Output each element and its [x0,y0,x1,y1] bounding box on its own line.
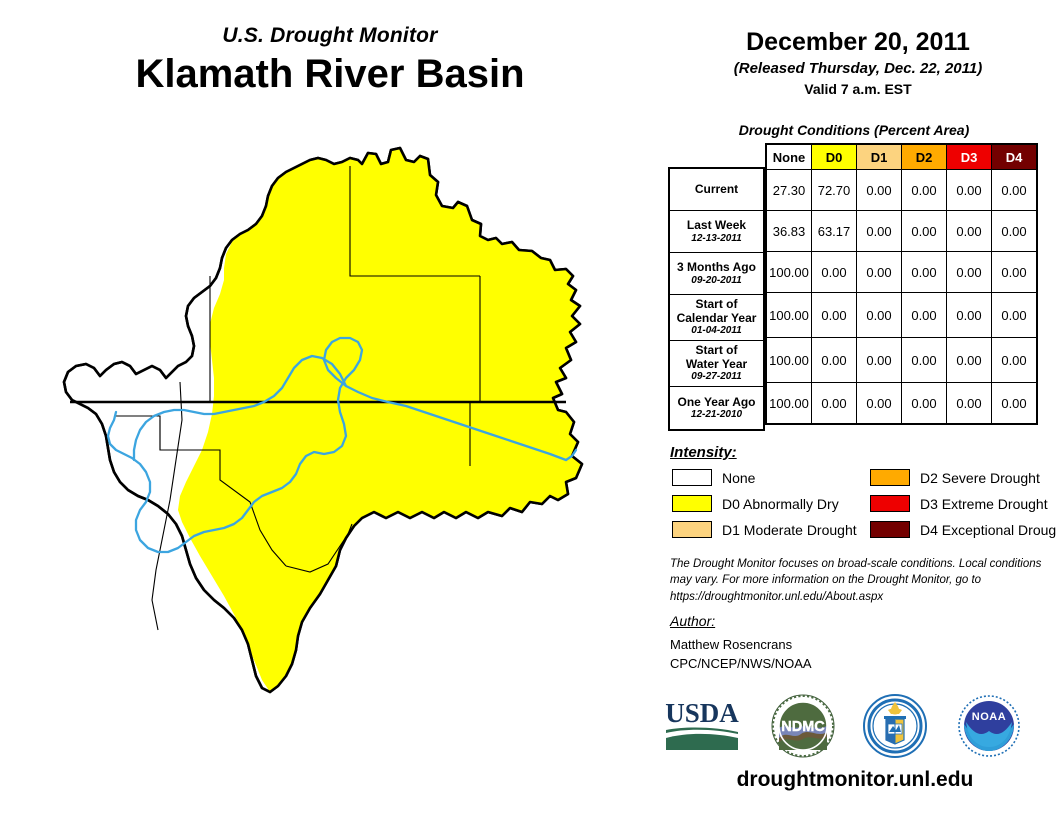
table-header-d2: D2 [902,144,947,170]
title-block: U.S. Drought Monitor Klamath River Basin [0,24,660,97]
row-label-date: 12-13-2011 [691,233,741,244]
legend-item-none: None [672,469,755,486]
cell-d1: 0.00 [857,170,902,211]
cell-d1: 0.00 [857,252,902,293]
cell-d1: 0.00 [857,293,902,338]
row-label-start-of-water-year: Start ofWater Year09-27-2011 [670,341,763,387]
cell-d4: 0.00 [992,293,1038,338]
author-heading: Author: [670,613,715,629]
table-row: 27.3072.700.000.000.000.00 [766,170,1037,211]
cell-d0: 0.00 [812,338,857,383]
cell-d0: 0.00 [812,383,857,425]
cell-d4: 0.00 [992,170,1038,211]
legend-label-none: None [722,470,755,486]
cell-d4: 0.00 [992,338,1038,383]
table-header-row: NoneD0D1D2D3D4 [766,144,1037,170]
table-row: 100.000.000.000.000.000.00 [766,338,1037,383]
cell-d0: 0.00 [812,252,857,293]
table-caption: Drought Conditions (Percent Area) [668,122,1040,138]
cell-d2: 0.00 [902,338,947,383]
cell-none: 36.83 [766,211,812,252]
cell-d2: 0.00 [902,211,947,252]
table-row: 100.000.000.000.000.000.00 [766,383,1037,425]
cell-d4: 0.00 [992,211,1038,252]
row-label-months-ago: 3 Months Ago09-20-2011 [670,253,763,295]
row-label-current: Current [670,169,763,211]
cell-d2: 0.00 [902,252,947,293]
table-header-d3: D3 [947,144,992,170]
author-block: Matthew Rosencrans CPC/NCEP/NWS/NOAA [670,636,812,674]
row-label-main: Calendar Year [677,312,757,325]
logo-row: USDA NDMC [660,694,1050,760]
drought-conditions-table: NoneD0D1D2D3D4 27.3072.700.000.000.000.0… [765,143,1038,425]
svg-text:NDMC: NDMC [781,719,825,735]
cell-d0: 72.70 [812,170,857,211]
legend-item-d3: D3 Extreme Drought [870,495,1048,512]
legend-item-d1: D1 Moderate Drought [672,521,857,538]
row-label-date: 01-04-2011 [691,325,741,336]
legend-swatch-d4 [870,521,910,538]
row-label-date: 09-20-2011 [691,275,741,286]
cell-d1: 0.00 [857,211,902,252]
legend-label-d2: D2 Severe Drought [920,470,1040,486]
noaa-logo[interactable]: NOAA [956,694,1022,763]
cell-d4: 0.00 [992,252,1038,293]
row-label-date: 09-27-2011 [691,371,741,382]
legend-swatch-d0 [672,495,712,512]
author-affiliation: CPC/NCEP/NWS/NOAA [670,655,812,674]
author-name: Matthew Rosencrans [670,636,812,655]
table-row: 100.000.000.000.000.000.00 [766,252,1037,293]
commerce-seal[interactable] [862,694,928,763]
disclaimer-text: The Drought Monitor focuses on broad-sca… [670,556,1045,605]
release-date: (Released Thursday, Dec. 22, 2011) [668,60,1048,77]
row-label-one-year-ago: One Year Ago12-21-2010 [670,387,763,429]
usda-logo[interactable]: USDA [660,694,744,759]
ndmc-logo[interactable]: NDMC [770,694,836,763]
legend-item-d0: D0 Abnormally Dry [672,495,839,512]
cell-none: 100.00 [766,293,812,338]
table-row: 100.000.000.000.000.000.00 [766,293,1037,338]
page-supertitle: U.S. Drought Monitor [0,24,660,48]
legend-swatch-d2 [870,469,910,486]
drought-map[interactable] [10,120,650,720]
cell-d3: 0.00 [947,383,992,425]
cell-d2: 0.00 [902,383,947,425]
row-label-start-of-calendar-year: Start ofCalendar Year01-04-2011 [670,295,763,341]
table-header-d0: D0 [812,144,857,170]
cell-d0: 63.17 [812,211,857,252]
svg-text:NOAA: NOAA [972,711,1006,723]
cell-d0: 0.00 [812,293,857,338]
cell-d3: 0.00 [947,211,992,252]
legend-label-d0: D0 Abnormally Dry [722,496,839,512]
date-block: December 20, 2011 (Released Thursday, De… [668,28,1048,97]
cell-none: 27.30 [766,170,812,211]
d0-region [178,148,582,692]
table-header-none: None [766,144,812,170]
table-body: 27.3072.700.000.000.000.0036.8363.170.00… [766,170,1037,425]
legend-label-d4: D4 Exceptional Drought [920,522,1056,538]
legend-label-d1: D1 Moderate Drought [722,522,857,538]
legend-swatch-d3 [870,495,910,512]
table-row: 36.8363.170.000.000.000.00 [766,211,1037,252]
report-date: December 20, 2011 [668,28,1048,57]
cell-d2: 0.00 [902,170,947,211]
row-label-main: Start of [696,344,738,357]
row-label-main: Current [695,183,738,196]
row-label-main: One Year Ago [677,396,755,409]
site-url[interactable]: droughtmonitor.unl.edu [660,768,1050,792]
cell-none: 100.00 [766,383,812,425]
cell-d4: 0.00 [992,383,1038,425]
legend-swatch-d1 [672,521,712,538]
row-label-main: 3 Months Ago [677,261,756,274]
table-row-label-column: CurrentLast Week12-13-20113 Months Ago09… [668,167,765,431]
table-header-d4: D4 [992,144,1038,170]
cell-d1: 0.00 [857,338,902,383]
legend-heading: Intensity: [670,444,737,461]
legend-label-d3: D3 Extreme Drought [920,496,1048,512]
cell-d3: 0.00 [947,252,992,293]
table-header-d1: D1 [857,144,902,170]
cell-d3: 0.00 [947,338,992,383]
legend-item-d2: D2 Severe Drought [870,469,1040,486]
row-label-main: Start of [696,298,738,311]
cell-d3: 0.00 [947,293,992,338]
cell-none: 100.00 [766,338,812,383]
cell-d1: 0.00 [857,383,902,425]
svg-text:USDA: USDA [665,698,739,728]
row-label-main: Water Year [686,358,747,371]
page-title: Klamath River Basin [0,52,660,97]
cell-d3: 0.00 [947,170,992,211]
valid-time: Valid 7 a.m. EST [668,81,1048,97]
cell-d2: 0.00 [902,293,947,338]
row-label-date: 12-21-2010 [691,409,742,420]
legend-item-d4: D4 Exceptional Drought [870,521,1056,538]
legend-swatch-none [672,469,712,486]
row-label-last-week: Last Week12-13-2011 [670,211,763,253]
row-label-main: Last Week [687,219,746,232]
cell-none: 100.00 [766,252,812,293]
